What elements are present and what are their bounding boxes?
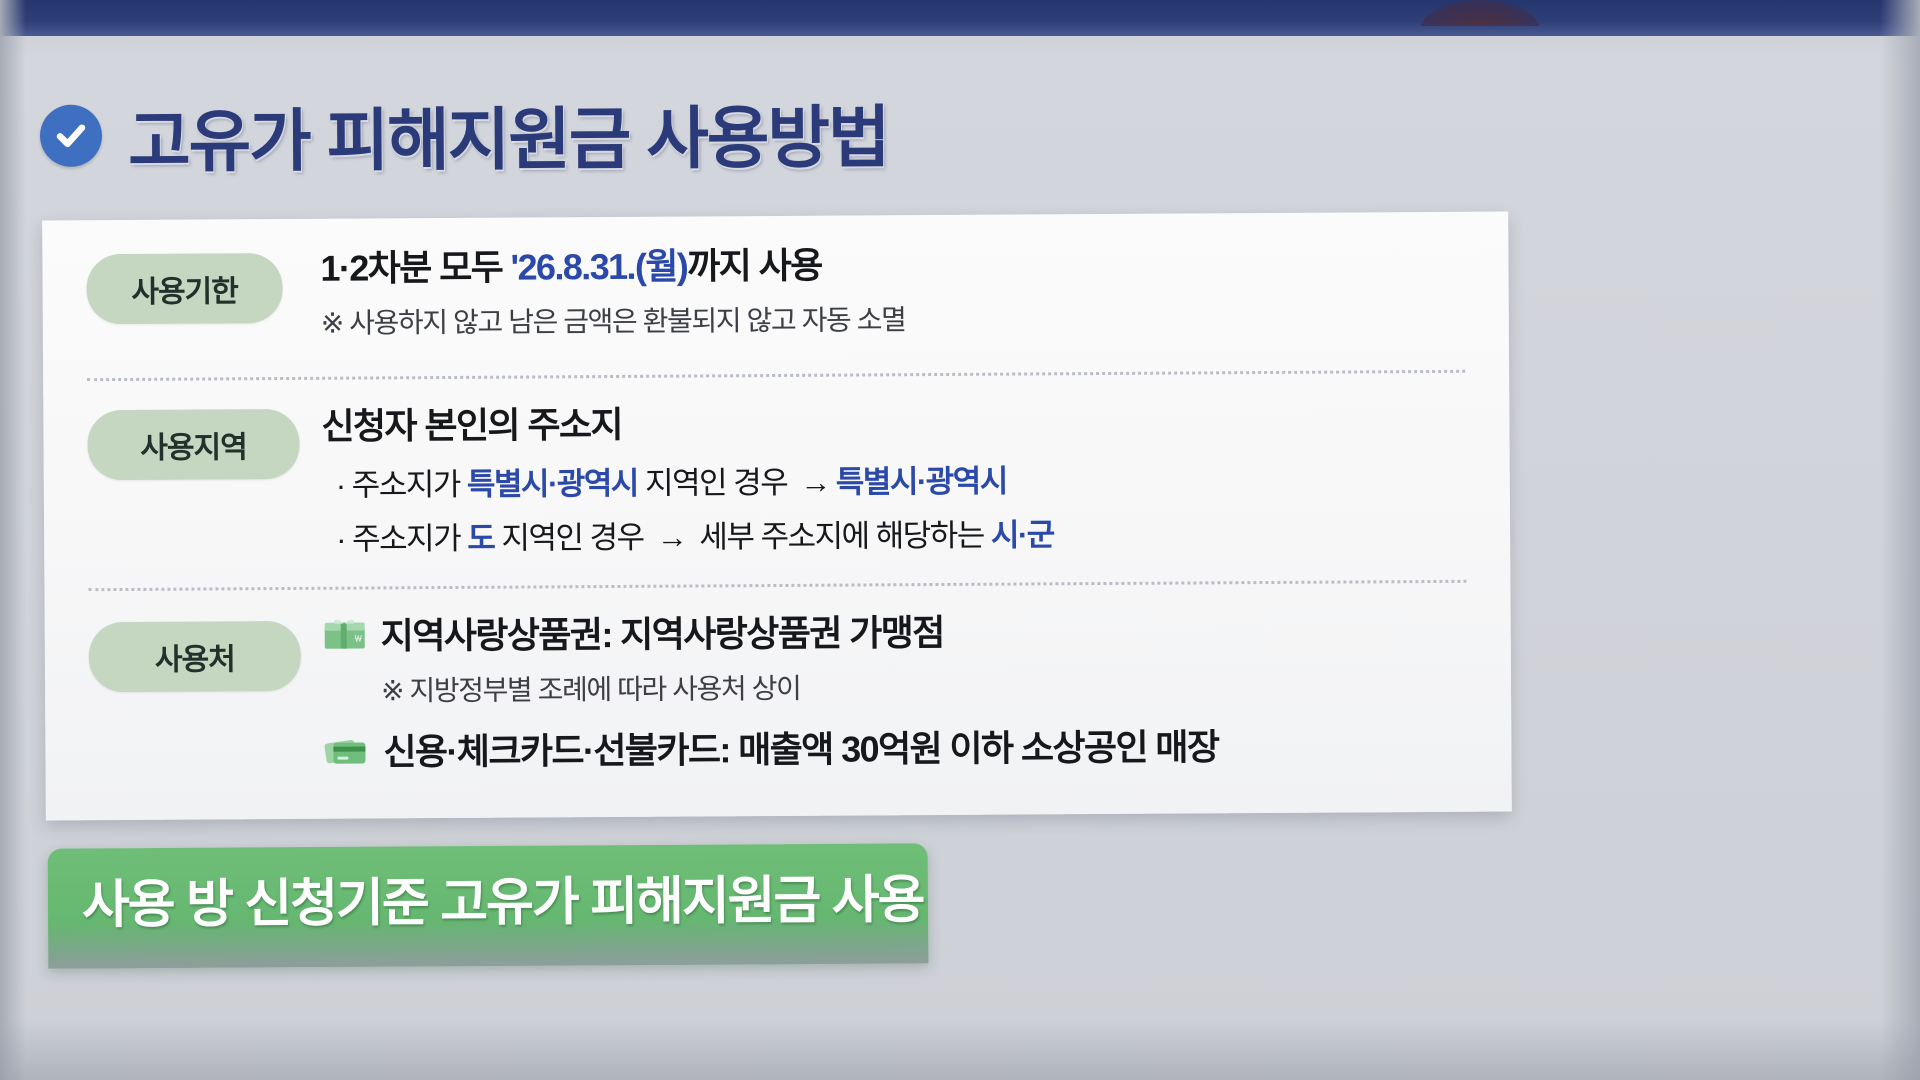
vignette-left bbox=[0, 0, 26, 1080]
row-usage-place-body: ￦ 지역사랑상품권: 지역사랑상품권 가맹점 ※ 지방정부별 조례에 따라 사용… bbox=[301, 610, 1470, 773]
bullet-1-prefix: · 주소지가 bbox=[336, 466, 467, 502]
divider-2 bbox=[88, 580, 1466, 591]
gift-voucher-icon: ￦ bbox=[323, 617, 367, 656]
bottom-green-banner: 사용 방 신청기준 고유가 피해지원금 사용 완료 bbox=[48, 843, 929, 968]
divider-1 bbox=[87, 370, 1465, 381]
vignette-right bbox=[1880, 0, 1920, 1080]
usage-period-note: ※ 사용하지 않고 남은 금액은 환불되지 않고 자동 소멸 bbox=[321, 301, 1467, 339]
row-usage-place: 사용처 ￦ 지역사랑상품권: 지역사랑상품권 가맹점 bbox=[89, 610, 1470, 774]
bullet-2-tail: 세부 주소지에 해당하는 bbox=[692, 517, 991, 554]
bullet-2-arrow: → bbox=[651, 519, 693, 554]
page-heading: 고유가 피해지원금 사용방법 bbox=[40, 82, 1341, 182]
badge-usage-period: 사용기한 bbox=[86, 253, 282, 324]
usage-place-voucher-text: 지역사랑상품권: 지역사랑상품권 가맹점 bbox=[381, 613, 944, 656]
check-circle-icon bbox=[40, 105, 102, 167]
bullet-2-term: 도 bbox=[467, 520, 494, 555]
usage-period-headline: 1·2차분 모두 '26.8.31.(월)까지 사용 bbox=[320, 242, 1466, 289]
usage-period-prefix: 1·2차분 모두 bbox=[320, 247, 510, 289]
row-usage-region: 사용지역 신청자 본인의 주소지 · 주소지가 특별시·광역시 지역인 경우 →… bbox=[87, 400, 1468, 558]
usage-place-voucher-note: ※ 지방정부별 조례에 따라 사용처 상이 bbox=[323, 669, 1469, 707]
badge-usage-place: 사용처 bbox=[89, 621, 301, 692]
bullet-1-result: 특별시·광역시 bbox=[836, 463, 1007, 499]
bullet-1-term: 특별시·광역시 bbox=[467, 465, 638, 501]
row-usage-region-body: 신청자 본인의 주소지 · 주소지가 특별시·광역시 지역인 경우 →특별시·광… bbox=[299, 400, 1468, 557]
usage-place-item-cards: 신용·체크카드·선불카드: 매출액 30억원 이하 소상공인 매장 bbox=[323, 726, 1469, 773]
poster-board: 고유가 피해지원금 사용방법 사용기한 1·2차분 모두 '26.8.31.(월… bbox=[0, 0, 1920, 1080]
bullet-1-arrow: → bbox=[794, 464, 836, 499]
bullet-2-result: 시·군 bbox=[991, 517, 1054, 552]
usage-place-item-voucher: ￦ 지역사랑상품권: 지역사랑상품권 가맹점 bbox=[323, 610, 1469, 657]
usage-region-bullet-1: · 주소지가 특별시·광역시 지역인 경우 →특별시·광역시 bbox=[322, 461, 1468, 502]
badge-usage-region: 사용지역 bbox=[87, 409, 299, 480]
bullet-2-middle: 지역인 경우 bbox=[494, 519, 651, 555]
background-top-strip bbox=[0, 0, 1920, 36]
vignette-bottom bbox=[0, 1020, 1920, 1080]
usage-period-suffix: 까지 사용 bbox=[687, 245, 822, 287]
banner-bottom-fade bbox=[48, 917, 928, 968]
usage-place-cards-text: 신용·체크카드·선불카드: 매출액 30억원 이하 소상공인 매장 bbox=[383, 728, 1218, 773]
page-title: 고유가 피해지원금 사용방법 bbox=[128, 81, 889, 185]
usage-region-bullet-2: · 주소지가 도 지역인 경우 → 세부 주소지에 해당하는 시·군 bbox=[322, 515, 1468, 556]
bullet-1-middle: 지역인 경우 bbox=[638, 464, 795, 500]
row-usage-period-body: 1·2차분 모두 '26.8.31.(월)까지 사용 ※ 사용하지 않고 남은 … bbox=[282, 242, 1467, 340]
usage-region-headline: 신청자 본인의 주소지 bbox=[321, 400, 1467, 447]
svg-text:￦: ￦ bbox=[354, 634, 363, 644]
row-usage-period: 사용기한 1·2차분 모두 '26.8.31.(월)까지 사용 ※ 사용하지 않… bbox=[86, 242, 1467, 341]
info-card: 사용기한 1·2차분 모두 '26.8.31.(월)까지 사용 ※ 사용하지 않… bbox=[42, 212, 1512, 821]
bullet-2-prefix: · 주소지가 bbox=[336, 521, 467, 557]
credit-cards-icon bbox=[323, 733, 369, 772]
usage-period-deadline: '26.8.31.(월) bbox=[510, 246, 687, 288]
